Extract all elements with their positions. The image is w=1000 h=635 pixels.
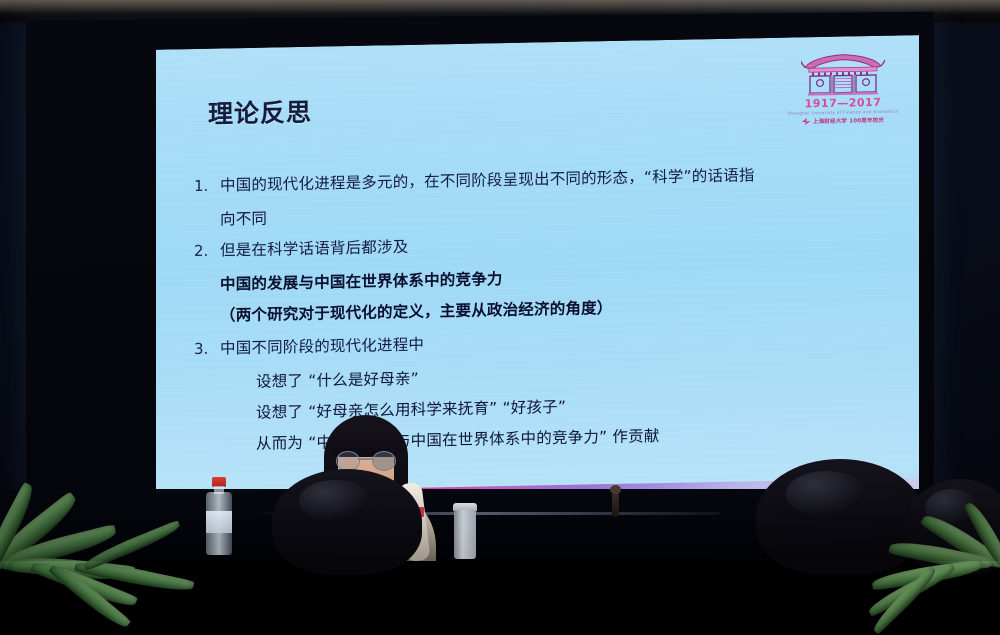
slide-body-list: 1. 中国的现代化进程是多元的，在不同阶段呈现出不同的形态，“科学”的话语指 向… bbox=[194, 158, 899, 462]
logo-subtitle-cn-row: 上海财经大学 100周年校庆 bbox=[791, 116, 895, 126]
plant-leaf bbox=[866, 562, 958, 617]
logo-swoosh-icon bbox=[802, 118, 811, 125]
plant-leaf bbox=[869, 566, 940, 635]
university-centenary-logo: 1917—2017 Shanghai University of Finance… bbox=[791, 50, 895, 134]
plant-leaf bbox=[48, 560, 131, 633]
thermos-cup bbox=[453, 503, 477, 559]
lecture-hall-background: 理论反思 bbox=[0, 0, 1000, 561]
plant-leaf bbox=[74, 556, 194, 596]
bottle-label bbox=[206, 511, 232, 533]
list-item-number: 2. bbox=[194, 236, 220, 266]
plant-leaf bbox=[871, 559, 984, 590]
gate-building-icon bbox=[801, 50, 885, 98]
projector-screen-bezel: 理论反思 bbox=[26, 12, 934, 506]
cup-body bbox=[454, 510, 476, 559]
list-item-text: 但是在科学话语背后都涉及 bbox=[220, 232, 408, 266]
panel-table-edge bbox=[250, 512, 720, 515]
plant-leaf bbox=[0, 524, 118, 571]
projector-screen-surface: 理论反思 bbox=[156, 35, 919, 515]
plant-leaf bbox=[963, 499, 1000, 575]
slide-title: 理论反思 bbox=[208, 93, 312, 131]
presentation-slide: 理论反思 bbox=[156, 35, 919, 515]
logo-years: 1917—2017 bbox=[791, 97, 895, 110]
list-item-text: 中国的现代化进程是多元的，在不同阶段呈现出不同的形态，“科学”的话语指 bbox=[220, 160, 755, 200]
plant-leaf bbox=[81, 520, 182, 571]
plant-leaf bbox=[920, 509, 1000, 575]
slide-footer-color-band bbox=[156, 478, 919, 515]
list-item-number: 3. bbox=[194, 334, 220, 364]
plant-leaf bbox=[0, 500, 4, 571]
plant-leaf bbox=[888, 537, 993, 575]
logo-subtitle-cn: 上海财经大学 100周年校庆 bbox=[813, 116, 884, 125]
list-item-number: 1. bbox=[194, 171, 220, 201]
list-item-text: 中国不同阶段的现代化进程中 bbox=[220, 330, 424, 364]
plant-leaf bbox=[8, 553, 135, 584]
plant-leaf bbox=[30, 556, 138, 612]
